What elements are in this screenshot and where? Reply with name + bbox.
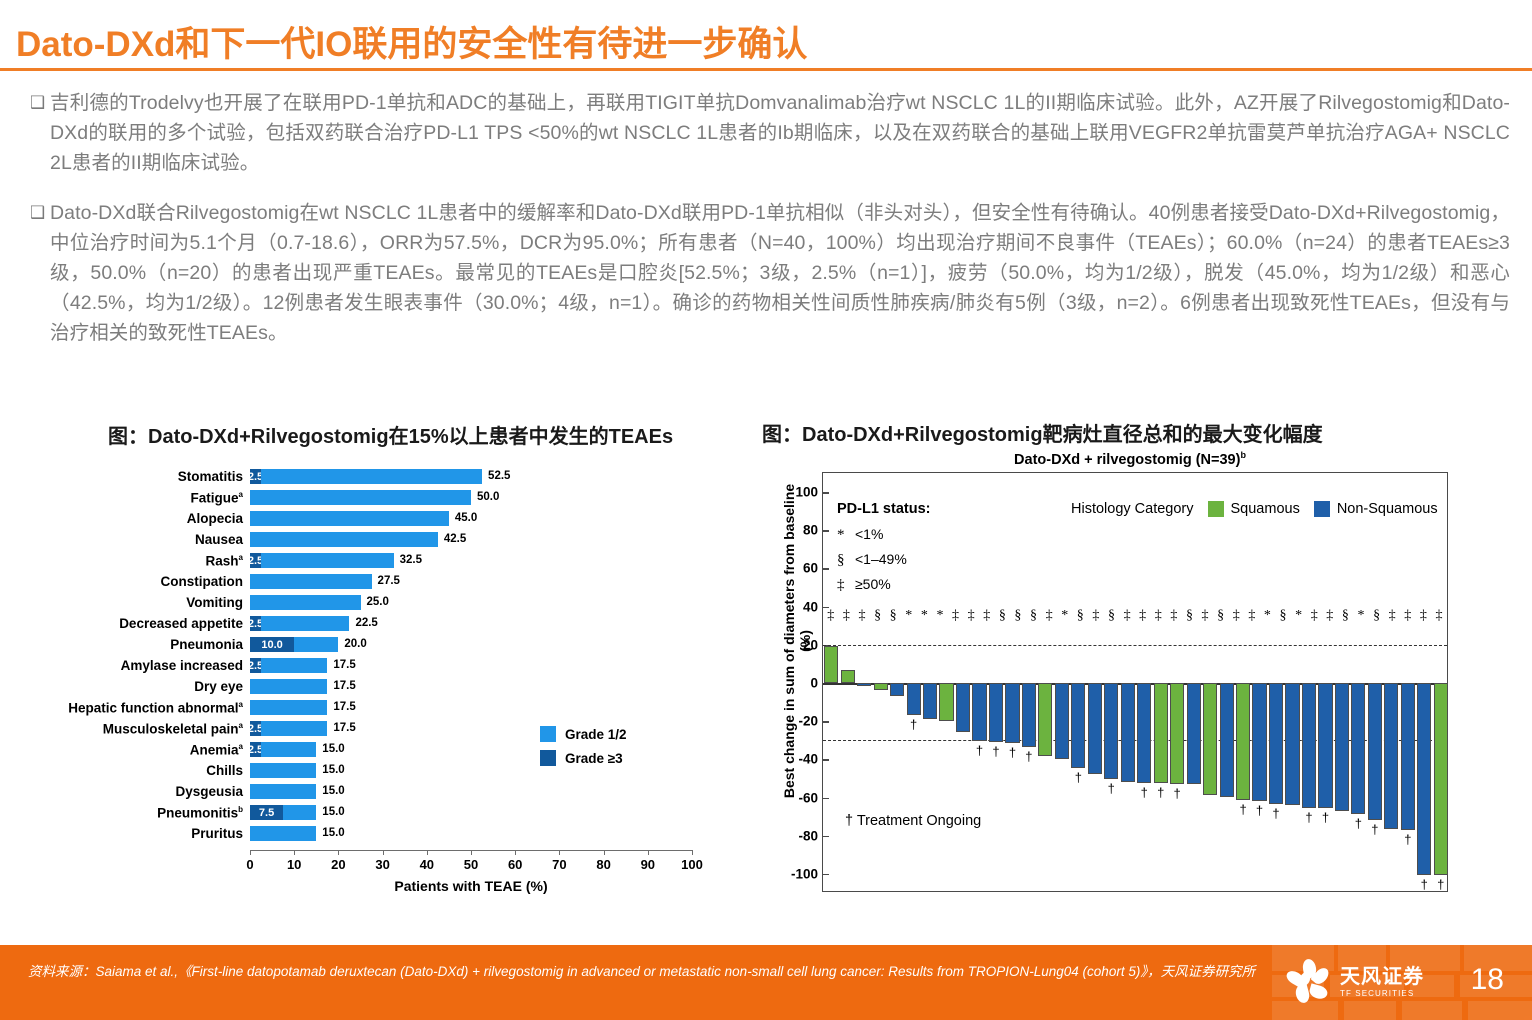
waterfall-bar (1285, 683, 1299, 805)
pdl1-status-legend: PD-L1 status: *<1%§<1–49%‡≥50% (837, 501, 930, 601)
teae-legend: Grade 1/2Grade ≥3 (540, 726, 627, 774)
pdl1-label: <1% (855, 526, 883, 542)
teae-total-value: 20.0 (344, 637, 366, 652)
waterfall-y-tick-label: 60 (803, 561, 818, 576)
waterfall-bar (1137, 683, 1151, 783)
waterfall-bar (890, 683, 904, 696)
teae-grade3-segment: 2.5 (250, 469, 261, 484)
pdl1-marker: § (1073, 608, 1089, 624)
treatment-ongoing-dagger-icon: † (1009, 745, 1016, 760)
waterfall-bar (1417, 683, 1431, 875)
teae-bar-track: 42.5 (250, 529, 692, 550)
teae-bar-row: Dry eye17.5 (60, 676, 720, 697)
teae-total-value: 42.5 (444, 532, 466, 547)
teae-bar-row: Pneumonitisb7.515.0 (60, 802, 720, 823)
teae-bar-track: 2.552.5 (250, 466, 692, 487)
waterfall-bar (1368, 683, 1382, 820)
teae-total-value: 32.5 (400, 553, 422, 568)
pdl1-marker: * (1057, 608, 1073, 624)
treatment-ongoing-dagger-icon: † (1157, 785, 1164, 800)
teae-total-value: 15.0 (322, 784, 344, 799)
pdl1-marker: ‡ (1400, 608, 1416, 624)
squamous-label: Squamous (1231, 501, 1300, 517)
waterfall-bar (1401, 683, 1415, 830)
pdl1-marker: ‡ (1416, 608, 1432, 624)
teae-grade12-segment (261, 721, 327, 736)
teae-bar-track: 2.522.5 (250, 613, 692, 634)
teae-x-tick-label: 100 (681, 857, 703, 872)
teae-grade12-segment (261, 553, 394, 568)
pdl1-marker: ‡ (1119, 608, 1135, 624)
pdl1-marker-row: ‡‡‡§§***‡‡‡§§§‡*§‡§‡‡‡‡§‡§‡‡*§*‡‡§*§‡‡‡‡ (823, 607, 1447, 625)
teae-grade12-segment (250, 679, 327, 694)
waterfall-y-tick-label: 40 (803, 599, 818, 614)
teae-x-tick-label: 40 (420, 857, 434, 872)
teae-category-label: Chills (60, 763, 250, 778)
teae-bar (250, 679, 327, 694)
pdl1-label: ≥50% (855, 576, 891, 592)
teae-category-label: Rasha (60, 553, 250, 569)
teae-grade3-segment: 2.5 (250, 658, 261, 673)
teae-x-tick (559, 850, 560, 855)
teae-category-label: Pneumonitisb (60, 805, 250, 821)
pdl1-marker: ‡ (1088, 608, 1104, 624)
teae-bar-track: 50.0 (250, 487, 692, 508)
teae-x-tick-label: 10 (287, 857, 301, 872)
teae-total-value: 45.0 (455, 511, 477, 526)
teae-legend-swatch (540, 750, 556, 766)
teae-x-tick (604, 850, 605, 855)
teae-grade12-segment (250, 700, 327, 715)
pdl1-marker: § (1182, 608, 1198, 624)
teae-category-label: Decreased appetite (60, 616, 250, 631)
waterfall-y-tick-label: 20 (803, 637, 818, 652)
pdl1-marker: ‡ (1228, 608, 1244, 624)
waterfall-bar (824, 646, 838, 683)
waterfall-bar (1187, 683, 1201, 784)
pdl1-marker: ‡ (948, 608, 964, 624)
waterfall-bar (1351, 683, 1365, 814)
pdl1-legend-title: PD-L1 status: (837, 501, 930, 517)
teae-bar-track: 10.020.0 (250, 634, 692, 655)
teae-grade3-segment: 2.5 (250, 721, 261, 736)
teae-total-value: 17.5 (333, 679, 355, 694)
teae-bar-rows: Stomatitis2.552.5Fatiguea50.0Alopecia45.… (60, 466, 720, 844)
pdl1-marker: § (1213, 608, 1229, 624)
pdl1-symbol: * (837, 527, 855, 544)
teae-bar-track: 45.0 (250, 508, 692, 529)
teae-total-value: 17.5 (333, 658, 355, 673)
waterfall-bar (841, 670, 855, 683)
teae-bar-row: Hepatic function abnormala17.5 (60, 697, 720, 718)
treatment-ongoing-dagger-icon: † (1174, 786, 1181, 801)
waterfall-y-tick (823, 759, 829, 761)
teae-x-tick (250, 850, 251, 855)
teae-bar: 2.5 (250, 742, 316, 757)
bullet-text-1: 吉利德的Trodelvy也开展了在联用PD-1单抗和ADC的基础上，再联用TIG… (50, 88, 1510, 178)
teae-bar-track: 27.5 (250, 571, 692, 592)
teae-total-value: 27.5 (378, 574, 400, 589)
pdl1-marker: ‡ (823, 608, 839, 624)
pdl1-marker: * (1260, 608, 1276, 624)
teae-category-label: Nausea (60, 532, 250, 547)
waterfall-bar (874, 683, 888, 690)
teae-grade12-segment (261, 742, 316, 757)
treatment-ongoing-dagger-icon: † (1075, 770, 1082, 785)
waterfall-y-tick-label: 100 (795, 485, 818, 500)
waterfall-bar (1154, 683, 1168, 783)
non-squamous-label: Non-Squamous (1337, 501, 1438, 517)
waterfall-bar (972, 683, 986, 741)
pdl1-marker: ‡ (1197, 608, 1213, 624)
logo-petal-icon (1294, 984, 1311, 1005)
teae-bar (250, 532, 438, 547)
teae-bar: 2.5 (250, 721, 327, 736)
waterfall-bar (1252, 683, 1266, 801)
teae-x-tick-label: 90 (641, 857, 655, 872)
waterfall-bar (1269, 683, 1283, 804)
teae-bar-track: 7.515.0 (250, 802, 692, 823)
treatment-ongoing-dagger-icon: † (1305, 810, 1312, 825)
teae-total-value: 15.0 (322, 742, 344, 757)
logo-petal-icon (1308, 983, 1329, 1000)
teae-category-label: Musculoskeletal paina (60, 721, 250, 737)
pdl1-marker: § (995, 608, 1011, 624)
teae-grade12-segment (261, 658, 327, 673)
waterfall-title: Dato-DXd + rilvegostomig (N=39)b (830, 450, 1430, 468)
bullet-marker-icon: ❑ (30, 88, 50, 117)
teae-total-value: 17.5 (333, 700, 355, 715)
teae-bar (250, 784, 316, 799)
teae-grade12-segment (250, 826, 316, 841)
teae-legend-label: Grade 1/2 (565, 727, 627, 742)
teae-category-label: Amylase increased (60, 658, 250, 673)
treatment-ongoing-dagger-icon: † (910, 717, 917, 732)
teae-bar-track: 15.0 (250, 823, 692, 844)
waterfall-y-tick-label: -60 (798, 790, 818, 805)
teae-grade12-segment (283, 805, 316, 820)
page-number: 18 (1471, 963, 1504, 997)
teae-grade3-segment: 2.5 (250, 616, 261, 631)
teae-x-tick (427, 850, 428, 855)
teae-grade12-segment (250, 511, 449, 526)
teae-legend-label: Grade ≥3 (565, 751, 623, 766)
pdl1-marker: * (917, 608, 933, 624)
teae-bar: 2.5 (250, 658, 327, 673)
teae-x-tick-label: 80 (596, 857, 610, 872)
company-logo: 天风证券 TF SECURITIES (1286, 959, 1424, 1005)
treatment-ongoing-dagger-icon: † (976, 743, 983, 758)
pdl1-marker: § (1104, 608, 1120, 624)
logo-text-en: TF SECURITIES (1340, 988, 1424, 999)
teae-grade12-segment (261, 469, 482, 484)
teae-bar-track: 25.0 (250, 592, 692, 613)
waterfall-y-tick-label: -100 (791, 866, 818, 881)
waterfall-bar (1236, 683, 1250, 800)
teae-category-label: Dry eye (60, 679, 250, 694)
treatment-ongoing-dagger-icon: † (1272, 806, 1279, 821)
waterfall-bar (1071, 683, 1085, 768)
waterfall-bar (939, 683, 953, 721)
waterfall-y-tick (823, 721, 829, 723)
pdl1-marker: § (1275, 608, 1291, 624)
teae-bar-track: 2.532.5 (250, 550, 692, 571)
waterfall-y-tick (823, 798, 829, 800)
teae-bar-row: Nausea42.5 (60, 529, 720, 550)
teae-category-label: Constipation (60, 574, 250, 589)
waterfall-y-tick (823, 492, 829, 494)
pdl1-marker: ‡ (839, 608, 855, 624)
teae-total-value: 50.0 (477, 490, 499, 505)
teae-bar: 10.0 (250, 637, 338, 652)
non-squamous-swatch (1314, 501, 1330, 517)
pdl1-marker: ‡ (1244, 608, 1260, 624)
teae-x-tick (294, 850, 295, 855)
teae-bar: 2.5 (250, 616, 349, 631)
treatment-ongoing-dagger-icon: † (992, 744, 999, 759)
teae-x-tick (515, 850, 516, 855)
footer-tile (1468, 1001, 1532, 1020)
teae-x-tick-label: 60 (508, 857, 522, 872)
teae-bar-row: Rasha2.532.5 (60, 550, 720, 571)
waterfall-bar (857, 683, 871, 686)
pdl1-marker: § (885, 608, 901, 624)
treatment-ongoing-dagger-icon: † (1141, 785, 1148, 800)
teae-bar-track: 17.5 (250, 676, 692, 697)
histology-legend-title: Histology Category (1071, 501, 1194, 517)
waterfall-bar (1170, 683, 1184, 784)
pdl1-marker: ‡ (1041, 608, 1057, 624)
teae-grade12-segment (250, 574, 372, 589)
pdl1-marker: ‡ (1322, 608, 1338, 624)
teae-grade12-segment (250, 595, 361, 610)
bullet-marker-icon: ❑ (30, 198, 50, 227)
teae-legend-item: Grade 1/2 (540, 726, 627, 742)
teae-bar-track: 15.0 (250, 781, 692, 802)
logo-flower-icon (1286, 959, 1332, 1005)
waterfall-y-tick (823, 836, 829, 838)
treatment-ongoing-dagger-icon: † (1355, 816, 1362, 831)
waterfall-y-tick (823, 530, 829, 532)
teae-bar-row: Constipation27.5 (60, 571, 720, 592)
teae-bar-row: Decreased appetite2.522.5 (60, 613, 720, 634)
waterfall-bar (1203, 683, 1217, 795)
teae-bar-row: Pruritus15.0 (60, 823, 720, 844)
bullet-text-2: Dato-DXd联合Rilvegostomig在wt NSCLC 1L患者中的缓… (50, 198, 1510, 348)
teae-x-tick (648, 850, 649, 855)
waterfall-bar (923, 683, 937, 719)
logo-text-cn: 天风证券 (1340, 966, 1424, 988)
teae-category-label: Pneumonia (60, 637, 250, 652)
waterfall-bar (1022, 683, 1036, 747)
teae-bar-row: Pneumonia10.020.0 (60, 634, 720, 655)
pdl1-legend-row: *<1% (837, 526, 930, 544)
treatment-ongoing-dagger-icon: † (1404, 832, 1411, 847)
teae-bar (250, 574, 372, 589)
pdl1-marker: ‡ (1306, 608, 1322, 624)
pdl1-marker: * (1291, 608, 1307, 624)
waterfall-bar (1088, 683, 1102, 774)
pdl1-marker: § (1026, 608, 1042, 624)
teae-total-value: 22.5 (355, 616, 377, 631)
waterfall-bar (1121, 683, 1135, 782)
waterfall-bar (907, 683, 921, 715)
treatment-ongoing-dagger-icon: † (1239, 802, 1246, 817)
teae-bar: 2.5 (250, 469, 482, 484)
slide-footer: 资料来源：Saiama et al.,《First-line datopotam… (0, 945, 1532, 1020)
waterfall-reference-line (823, 645, 1447, 646)
waterfall-y-tick-label: -80 (798, 828, 818, 843)
bullet-paragraph-1: ❑ 吉利德的Trodelvy也开展了在联用PD-1单抗和ADC的基础上，再联用T… (30, 88, 1510, 178)
teae-x-tick (383, 850, 384, 855)
teae-bar-row: Alopecia45.0 (60, 508, 720, 529)
teae-category-label: Hepatic function abnormala (60, 700, 250, 716)
bullet-paragraph-2: ❑ Dato-DXd联合Rilvegostomig在wt NSCLC 1L患者中… (30, 198, 1510, 348)
teae-category-label: Vomiting (60, 595, 250, 610)
waterfall-bar (1335, 683, 1349, 811)
teae-bar (250, 763, 316, 778)
pdl1-marker: * (1353, 608, 1369, 624)
teae-bar-row: Amylase increased2.517.5 (60, 655, 720, 676)
treatment-ongoing-dagger-icon: † (1322, 810, 1329, 825)
slide-root: Dato-DXd和下一代IO联用的安全性有待进一步确认 ❑ 吉利德的Trodel… (0, 0, 1532, 1020)
treatment-ongoing-dagger-icon: † (1256, 803, 1263, 818)
waterfall-bar (1055, 683, 1069, 759)
teae-bar (250, 595, 361, 610)
pdl1-marker: § (1010, 608, 1026, 624)
teae-bar (250, 826, 316, 841)
waterfall-plot-area: PD-L1 status: *<1%§<1–49%‡≥50% Histology… (822, 472, 1448, 892)
pdl1-marker: ‡ (1384, 608, 1400, 624)
waterfall-bar (1104, 683, 1118, 779)
pdl1-marker: § (1338, 608, 1354, 624)
teae-x-axis-title: Patients with TEAE (%) (250, 878, 692, 894)
teae-bar (250, 700, 327, 715)
pdl1-symbol: § (837, 552, 855, 569)
source-citation: 资料来源：Saiama et al.,《First-line datopotam… (28, 961, 1258, 983)
squamous-swatch (1208, 501, 1224, 517)
waterfall-bar (1220, 683, 1234, 797)
pdl1-marker: § (1369, 608, 1385, 624)
teae-grade3-segment: 7.5 (250, 805, 283, 820)
teae-total-value: 25.0 (367, 595, 389, 610)
teae-grade3-segment: 2.5 (250, 553, 261, 568)
waterfall-chart: Dato-DXd + rilvegostomig (N=39)b Best ch… (750, 450, 1450, 910)
teae-bar: 7.5 (250, 805, 316, 820)
pdl1-marker: ‡ (1166, 608, 1182, 624)
waterfall-bar (1318, 683, 1332, 808)
teae-category-label: Fatiguea (60, 490, 250, 506)
treatment-ongoing-dagger-icon: † (1108, 781, 1115, 796)
teae-total-value: 15.0 (322, 826, 344, 841)
teae-x-tick-label: 50 (464, 857, 478, 872)
teae-bar-track: 2.517.5 (250, 655, 692, 676)
teae-category-label: Anemiaa (60, 742, 250, 758)
teae-x-tick-label: 20 (331, 857, 345, 872)
teae-category-label: Pruritus (60, 826, 250, 841)
teae-total-value: 52.5 (488, 469, 510, 484)
waterfall-y-tick-label: -40 (798, 752, 818, 767)
teae-grade12-segment (250, 532, 438, 547)
teae-grade3-segment: 2.5 (250, 742, 261, 757)
treatment-ongoing-dagger-icon: † (1025, 749, 1032, 764)
treatment-ongoing-dagger-icon: † (1437, 877, 1444, 892)
figure-caption-left: 图：Dato-DXd+Rilvegostomig在15%以上患者中发生的TEAE… (108, 420, 673, 449)
teae-x-tick-label: 70 (552, 857, 566, 872)
waterfall-bar (1302, 683, 1316, 808)
pdl1-marker: ‡ (963, 608, 979, 624)
pdl1-marker: ‡ (979, 608, 995, 624)
waterfall-bar (989, 683, 1003, 742)
treatment-ongoing-dagger-icon: † (1421, 877, 1428, 892)
teae-category-label: Dysgeusia (60, 784, 250, 799)
teae-bar (250, 490, 471, 505)
teae-category-label: Alopecia (60, 511, 250, 526)
teae-bar-chart: Stomatitis2.552.5Fatiguea50.0Alopecia45.… (60, 458, 720, 898)
teae-category-label: Stomatitis (60, 469, 250, 484)
teae-grade12-segment (250, 490, 471, 505)
pdl1-legend-row: §<1–49% (837, 551, 930, 569)
page-title: Dato-DXd和下一代IO联用的安全性有待进一步确认 (16, 16, 807, 67)
teae-grade12-segment (250, 784, 316, 799)
teae-x-tick-label: 30 (375, 857, 389, 872)
teae-total-value: 15.0 (322, 763, 344, 778)
histology-legend: Histology Category Squamous Non-Squamous (1071, 501, 1438, 517)
waterfall-y-tick-label: -20 (798, 714, 818, 729)
teae-grade12-segment (261, 616, 349, 631)
teae-bar (250, 511, 449, 526)
title-divider (0, 68, 1532, 71)
pdl1-marker: ‡ (854, 608, 870, 624)
waterfall-y-tick (823, 874, 829, 876)
pdl1-marker: ‡ (1135, 608, 1151, 624)
pdl1-label: <1–49% (855, 551, 907, 567)
teae-bar-row: Vomiting25.0 (60, 592, 720, 613)
teae-bar-row: Fatiguea50.0 (60, 487, 720, 508)
teae-total-value: 15.0 (322, 805, 344, 820)
waterfall-bar (1434, 683, 1448, 875)
waterfall-bar (956, 683, 970, 732)
teae-bar-row: Dysgeusia15.0 (60, 781, 720, 802)
teae-grade12-segment (294, 637, 338, 652)
teae-legend-item: Grade ≥3 (540, 750, 627, 766)
waterfall-y-tick-label: 0 (810, 676, 818, 691)
waterfall-bar (1005, 683, 1019, 743)
teae-bar: 2.5 (250, 553, 394, 568)
teae-grade3-segment: 10.0 (250, 637, 294, 652)
pdl1-marker: * (932, 608, 948, 624)
teae-bar-track: 17.5 (250, 697, 692, 718)
treatment-ongoing-dagger-icon: † (1371, 822, 1378, 837)
pdl1-marker: * (901, 608, 917, 624)
teae-grade12-segment (250, 763, 316, 778)
teae-x-tick (338, 850, 339, 855)
pdl1-marker: § (870, 608, 886, 624)
teae-legend-swatch (540, 726, 556, 742)
teae-x-tick (471, 850, 472, 855)
pdl1-symbol: ‡ (837, 577, 855, 594)
teae-x-tick (692, 850, 693, 855)
figure-caption-right: 图：Dato-DXd+Rilvegostomig靶病灶直径总和的最大变化幅度 (762, 418, 1323, 447)
teae-x-tick-label: 0 (246, 857, 253, 872)
treatment-ongoing-note: † Treatment Ongoing (845, 813, 981, 829)
pdl1-marker: ‡ (1431, 608, 1447, 624)
pdl1-marker: ‡ (1150, 608, 1166, 624)
waterfall-bar (1384, 683, 1398, 829)
waterfall-bar (1038, 683, 1052, 756)
pdl1-legend-row: ‡≥50% (837, 576, 930, 594)
waterfall-y-tick (823, 568, 829, 570)
